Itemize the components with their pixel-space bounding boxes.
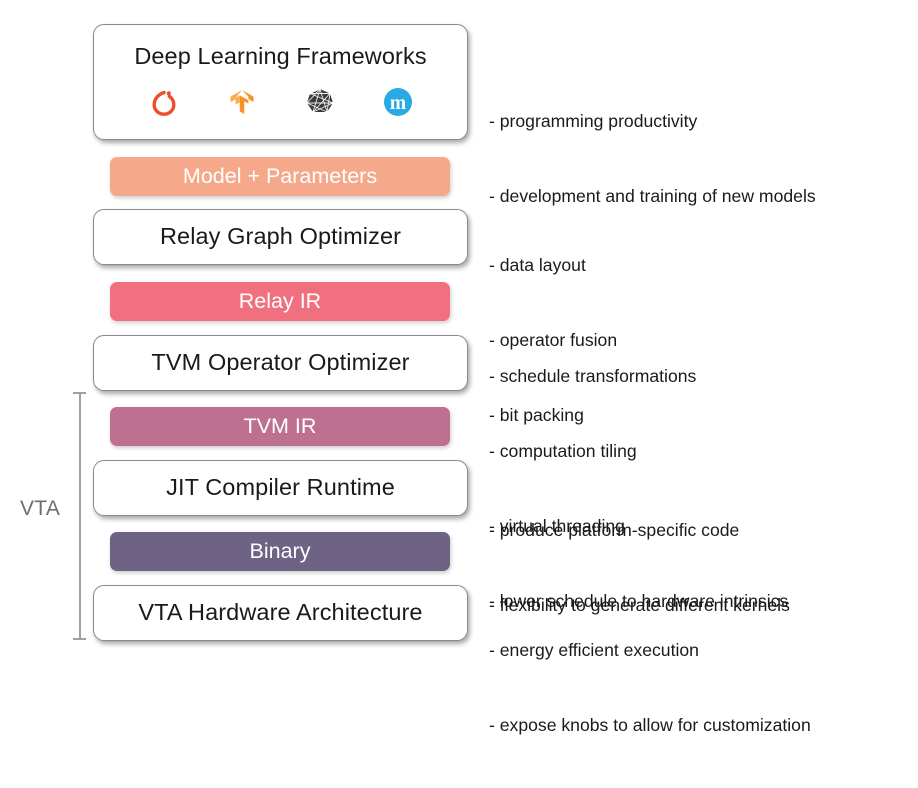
layer-label-jit-compiler-runtime: JIT Compiler Runtime xyxy=(166,476,395,500)
layer-box-vta-hardware-architecture[interactable]: VTA Hardware Architecture xyxy=(93,585,468,641)
layer-label-frameworks: Deep Learning Frameworks xyxy=(134,45,426,69)
layer-label-tvm-optimizer: TVM Operator Optimizer xyxy=(151,351,409,375)
stack-diagram: VTA Deep Learning Frameworks xyxy=(0,0,918,672)
layer-label-binary: Binary xyxy=(250,541,311,563)
annotation-hardware: - energy efficient execution - expose kn… xyxy=(489,588,811,788)
layer-bar-binary[interactable]: Binary xyxy=(110,532,450,571)
annotation-line: - data layout xyxy=(489,253,617,278)
layer-box-relay-optimizer[interactable]: Relay Graph Optimizer xyxy=(93,209,468,265)
layer-label-relay-optimizer: Relay Graph Optimizer xyxy=(160,225,401,249)
annotation-line: - expose knobs to allow for customizatio… xyxy=(489,713,811,738)
mathematica-m-logo: m xyxy=(379,83,417,121)
layer-box-tvm-optimizer[interactable]: TVM Operator Optimizer xyxy=(93,335,468,391)
layer-box-jit-compiler-runtime[interactable]: JIT Compiler Runtime xyxy=(93,460,468,516)
bracket-cap-bottom xyxy=(73,638,86,640)
annotation-line: - computation tiling xyxy=(489,439,788,464)
pytorch-logo xyxy=(145,83,183,121)
annotation-line: - energy efficient execution xyxy=(489,638,811,663)
layer-label-model-params: Model + Parameters xyxy=(183,166,377,188)
vta-group-bracket xyxy=(73,392,87,640)
annotation-line: - programming productivity xyxy=(489,109,816,134)
svg-text:m: m xyxy=(389,93,405,114)
tensorflow-logo xyxy=(223,83,261,121)
layer-bar-model-params[interactable]: Model + Parameters xyxy=(110,157,450,196)
layer-label-relay-ir: Relay IR xyxy=(239,291,321,313)
framework-logo-strip: m xyxy=(94,83,467,121)
layer-bar-relay-ir[interactable]: Relay IR xyxy=(110,282,450,321)
layer-bar-tvm-ir[interactable]: TVM IR xyxy=(110,407,450,446)
layer-label-tvm-ir: TVM IR xyxy=(244,416,317,438)
annotation-line: - produce platform-specific code xyxy=(489,518,790,543)
layer-label-vta-hardware-architecture: VTA Hardware Architecture xyxy=(138,601,422,625)
mxnet-logo xyxy=(301,83,339,121)
bracket-stem xyxy=(79,392,81,640)
vta-group-label: VTA xyxy=(20,497,60,521)
annotation-line: - schedule transformations xyxy=(489,364,788,389)
layer-box-frameworks[interactable]: Deep Learning Frameworks xyxy=(93,24,468,140)
